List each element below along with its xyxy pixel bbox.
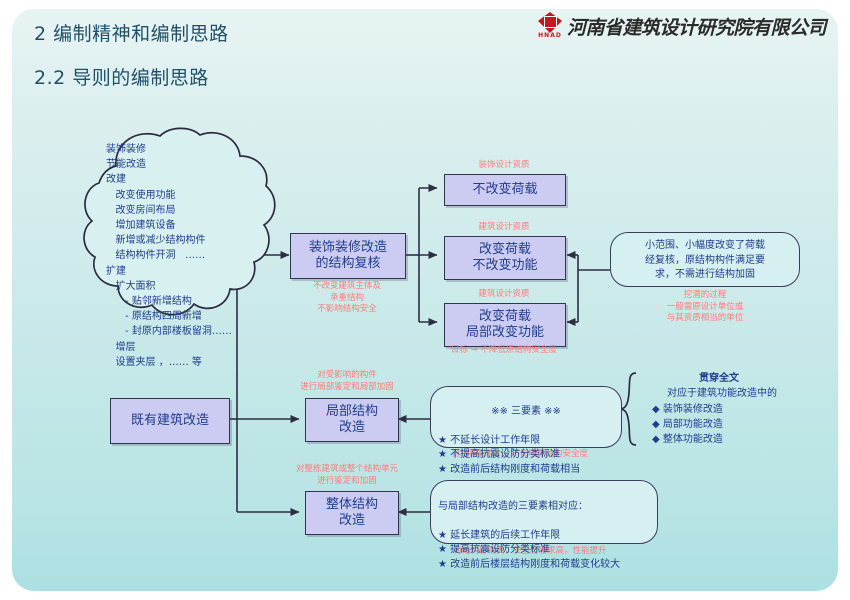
bubble-three-elements: ※※ 三要素 ※※ ★ 不延长设计工作年限 ★ 不提高抗震设防分类标准 ★ 改造… xyxy=(430,386,622,448)
bubble-whole-elements-title: 与局部结构改造的三要素相对应： xyxy=(438,500,650,515)
side-note-item-0: ◆ 装饰装修改造 xyxy=(652,403,812,418)
box-load-change-no-function-change[interactable]: 改变荷载 不改变功能 xyxy=(444,236,566,280)
box-local-structural-renovation[interactable]: 局部结构 改造 xyxy=(305,398,399,442)
slide-canvas: 2 编制精神和编制思路 2.2 导则的编制思路 HNAD 河南省建筑设计研究院有… xyxy=(0,0,850,600)
bubble-three-elements-body: ※※ 三要素 ※※ ★ 不延长设计工作年限 ★ 不提高抗震设防分类标准 ★ 改造… xyxy=(431,387,621,495)
scope-cloud: 装饰装修 节能改造 改建 改变使用功能 改变房间布局 增加建筑设备 新增或减少结… xyxy=(78,126,298,336)
bubble-whole-elements-list: ★ 延长建筑的后续工作年限 ★ 提高抗震设防分类标准 ★ 改造前后楼层结构刚度和… xyxy=(438,529,650,573)
label-decoration-review-note: 不改变建筑主体及 承重结构 不影响结构安全 xyxy=(281,281,413,316)
side-note-item-1: ◆ 局部功能改造 xyxy=(652,418,812,433)
bubble-whole-elements-body: 与局部结构改造的三要素相对应： ★ 延长建筑的后续工作年限 ★ 提高抗震设防分类… xyxy=(431,481,657,591)
bubble-small-scope-text: 小范围、小幅度改变了荷载 经复核，原结构构件满足要 求，不需进行结构加固 xyxy=(611,233,799,289)
box-decoration-structural-review[interactable]: 装饰装修改造 的结构复核 xyxy=(290,233,406,279)
side-note-item-2: ◆ 整体功能改造 xyxy=(652,433,812,448)
box-load-change-partial-function-change[interactable]: 改变荷载 局部改变功能 xyxy=(444,303,566,347)
box-existing-building-renovation[interactable]: 既有建筑改造 xyxy=(110,398,230,444)
side-note-line2: 对应于建筑功能改造中的 xyxy=(638,387,806,402)
box-whole-structural-renovation[interactable]: 整体结构 改造 xyxy=(305,491,399,535)
bubble-three-elements-list: ★ 不延长设计工作年限 ★ 不提高抗震设防分类标准 ★ 改造前后结构刚度和荷载相… xyxy=(438,434,614,478)
label-architecture-qualification-2: 建筑设计资质 xyxy=(444,289,564,301)
label-whole-renovation-note: 对整栋建筑或整个结构单元 进行鉴定和加固 xyxy=(268,464,426,487)
label-local-renovation-note: 对受影响的构件 进行局部鉴定和局部加固 xyxy=(268,370,426,393)
scope-cloud-text: 装饰装修 节能改造 改建 改变使用功能 改变房间布局 增加建筑设备 新增或减少结… xyxy=(106,142,296,370)
bubble-three-elements-title: ※※ 三要素 ※※ xyxy=(438,405,614,420)
label-goal-note: 目标 → 不降低原结构安全度 xyxy=(424,345,584,357)
bubble-whole-elements: 与局部结构改造的三要素相对应： ★ 延长建筑的后续工作年限 ★ 提高抗震设防分类… xyxy=(430,480,658,544)
label-bubble-right-note: 挖潜的过程 一般需原设计单位或 与其资质相当的单位 xyxy=(613,290,797,325)
side-note-line1: 贯穿全文 xyxy=(644,372,794,387)
bubble-small-scope-load-change: 小范围、小幅度改变了荷载 经复核，原结构构件满足要 求，不需进行结构加固 xyxy=(610,232,800,287)
label-architecture-qualification-1: 建筑设计资质 xyxy=(444,222,564,234)
box-no-load-change[interactable]: 不改变荷载 xyxy=(444,174,566,206)
label-decoration-qualification: 装饰设计资质 xyxy=(444,160,564,172)
